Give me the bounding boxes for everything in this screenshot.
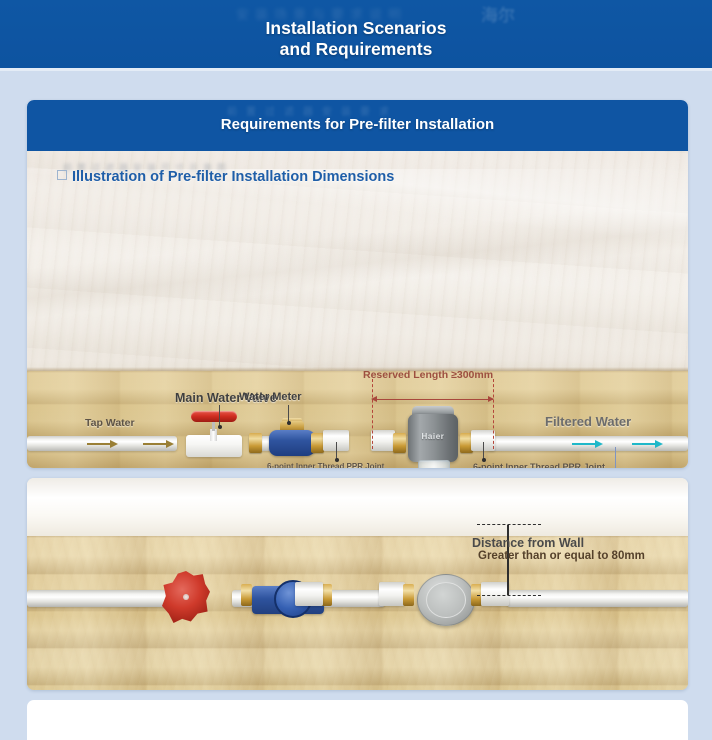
flow-arrow-icon (143, 443, 173, 445)
reserved-length-guide-right (493, 379, 494, 449)
meter-body (269, 430, 315, 456)
main-water-valve (182, 427, 246, 459)
filter-glass-bowl (418, 460, 450, 468)
card-header-title: Requirements for Pre-filter Installation (27, 116, 688, 133)
water-meter-text: Water Meter (239, 391, 302, 403)
installation-guide-page: 安装场景与要求说明 海尔 Installation Scenarios and … (0, 0, 712, 712)
flow-arrow-icon (87, 443, 117, 445)
ppr-joint-left-leader (336, 442, 337, 460)
tap-water-flow-arrows (87, 443, 173, 445)
figure-caption-text: Illustration of Pre-filter Installation … (72, 169, 394, 185)
tap-water-label: Tap Water (85, 417, 135, 429)
height-from-ground-guide (615, 447, 616, 468)
upper-wall (27, 478, 688, 540)
valve-handle-icon (191, 411, 237, 422)
flow-arrow-icon (632, 443, 662, 445)
page-title-line2: and Requirements (0, 39, 712, 60)
brass-nut (249, 433, 262, 453)
meter-leader-line (288, 405, 289, 423)
wall-texture-highlight (27, 169, 688, 349)
card-header: 前置过滤器安装要求 Requirements for Pre-filter In… (27, 100, 688, 151)
filtered-water-label: Filtered Water (545, 414, 631, 429)
figure-caption: Illustration of Pre-filter Installation … (57, 169, 394, 185)
water-meter-label: Water Meter (239, 391, 302, 404)
brass-nut (403, 584, 414, 606)
installation-dimensions-figure: 前置过滤器安装尺寸示意图 Illustration of Pre-filter … (27, 151, 688, 468)
page-title: Installation Scenarios and Requirements (0, 18, 712, 60)
banner-underline (0, 68, 712, 71)
ppr-joint-right-label: 6-point Inner Thread PPR Joint (473, 462, 605, 468)
wall-distance-figure-card (27, 478, 688, 690)
filtered-water-flow-arrows (572, 443, 662, 445)
pipe2-segment-a (27, 590, 167, 607)
flow-arrow-icon (572, 443, 602, 445)
brand-label: Haier (408, 432, 458, 441)
reserved-length-guide-left (372, 379, 373, 449)
square-bullet-icon (57, 170, 67, 180)
brass-nut (241, 584, 252, 606)
brass-nut (393, 433, 406, 453)
valve-leader-line (219, 405, 220, 427)
ppr-joint-right-leader (483, 442, 484, 460)
page-banner: 安装场景与要求说明 海尔 Installation Scenarios and … (0, 0, 712, 68)
page-title-line1: Installation Scenarios (266, 18, 447, 38)
distance-from-wall-value: Greater than or equal to 80mm (478, 549, 645, 563)
next-section-placeholder (27, 700, 688, 740)
ppr-joint-inlet (371, 430, 395, 451)
prefilter-requirements-card: 前置过滤器安装要求 Requirements for Pre-filter In… (27, 100, 688, 468)
ppr-joint-left-label: 6-point Inner Thread PPR Joint (267, 462, 384, 468)
ppr-joint-a (295, 582, 323, 606)
filtered-water-text: Filtered Water (545, 414, 631, 429)
ppr-joint-b (379, 582, 405, 606)
filter-head: Haier (408, 414, 458, 462)
reserved-length-label: Reserved Length ≥300mm (363, 369, 493, 381)
reserved-length-measure-line (372, 399, 493, 400)
prefilter-cap-device (417, 574, 475, 626)
